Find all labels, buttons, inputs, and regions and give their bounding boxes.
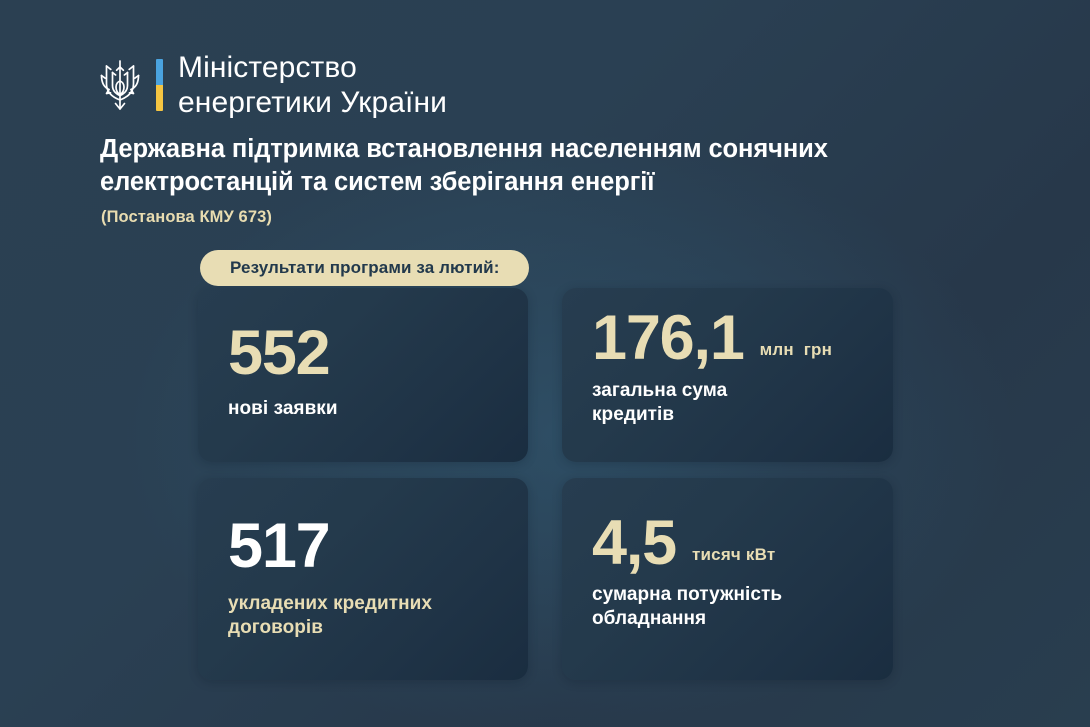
stat-card: 552 нові заявки <box>198 288 528 462</box>
infographic-page: Міністерство енергетики України Державна… <box>0 0 1090 727</box>
stat-value: 552 <box>228 323 330 385</box>
stat-label: загальна сума кредитів <box>592 379 875 427</box>
ukraine-trident-icon <box>98 57 142 113</box>
stat-value-row: 517 <box>228 516 510 578</box>
stat-value: 176,1 <box>592 308 744 370</box>
stat-card: 4,5 тисяч кВт сумарна потужність обладна… <box>562 478 893 680</box>
stat-value: 517 <box>228 516 330 578</box>
stat-value-row: 4,5 тисяч кВт <box>592 513 875 575</box>
stat-value-row: 552 <box>228 323 510 385</box>
stat-label: сумарна потужність обладнання <box>592 583 875 631</box>
page-subtitle: (Постанова КМУ 673) <box>101 208 272 227</box>
ministry-logo: Міністерство енергетики України <box>98 50 447 121</box>
results-period-badge: Результати програми за лютий: <box>200 250 529 286</box>
stat-value: 4,5 <box>592 513 676 575</box>
stat-card: 176,1 млн грн загальна сума кредитів <box>562 288 893 462</box>
stat-card: 517 укладених кредитних договорів <box>198 478 528 680</box>
ukraine-flag-bar-icon <box>156 59 163 111</box>
stat-label: нові заявки <box>228 397 510 421</box>
stat-unit: млн грн <box>760 340 832 360</box>
stat-label: укладених кредитних договорів <box>228 592 510 640</box>
stat-value-row: 176,1 млн грн <box>592 308 875 370</box>
page-title: Державна підтримка встановлення населенн… <box>100 133 980 200</box>
ministry-name: Міністерство енергетики України <box>178 50 447 121</box>
stat-unit: тисяч кВт <box>692 545 775 565</box>
